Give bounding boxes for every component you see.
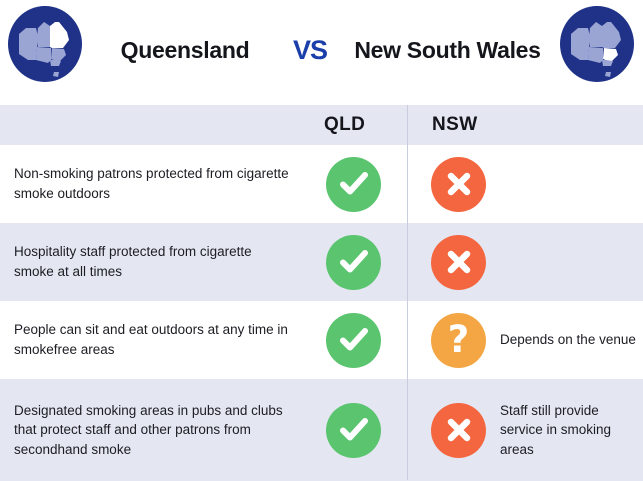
nsw-status-cell: ? Depends on the venue bbox=[407, 313, 643, 368]
comparison-infographic: Queensland VS New South Wales bbox=[0, 0, 643, 480]
statement-text: Designated smoking areas in pubs and clu… bbox=[0, 401, 300, 460]
check-circle-icon bbox=[326, 235, 381, 290]
cross-circle-icon bbox=[431, 157, 486, 212]
qld-status-cell bbox=[300, 403, 407, 458]
nsw-note-text: Depends on the venue bbox=[500, 330, 636, 350]
column-divider bbox=[407, 105, 408, 480]
check-circle-icon bbox=[326, 313, 381, 368]
table-row: Non-smoking patrons protected from cigar… bbox=[0, 145, 643, 223]
title-text-group: Queensland VS New South Wales bbox=[90, 0, 555, 100]
vs-label: VS bbox=[280, 35, 340, 66]
statement-text: People can sit and eat outdoors at any t… bbox=[0, 320, 300, 359]
statement-text: Non-smoking patrons protected from cigar… bbox=[0, 164, 300, 203]
right-state-label: New South Wales bbox=[340, 37, 555, 64]
table-header-row: QLD NSW bbox=[0, 105, 643, 145]
check-circle-icon bbox=[326, 403, 381, 458]
nsw-status-cell bbox=[407, 235, 643, 290]
table-row: Designated smoking areas in pubs and clu… bbox=[0, 379, 643, 481]
nsw-note-text: Staff still provide service in smoking a… bbox=[500, 401, 643, 460]
left-state-label: Queensland bbox=[90, 37, 280, 64]
nsw-status-cell bbox=[407, 157, 643, 212]
cross-circle-icon bbox=[431, 235, 486, 290]
title-bar: Queensland VS New South Wales bbox=[0, 0, 643, 100]
nsw-status-cell: Staff still provide service in smoking a… bbox=[407, 401, 643, 460]
australia-map-queensland-highlighted-icon bbox=[6, 4, 84, 84]
question-mark-glyph: ? bbox=[448, 321, 469, 358]
cross-circle-icon bbox=[431, 403, 486, 458]
qld-status-cell bbox=[300, 235, 407, 290]
column-header-nsw: NSW bbox=[407, 114, 643, 136]
qld-status-cell bbox=[300, 313, 407, 368]
comparison-table: QLD NSW Non-smoking patrons protected fr… bbox=[0, 105, 643, 480]
question-circle-icon: ? bbox=[431, 313, 486, 368]
check-circle-icon bbox=[326, 157, 381, 212]
table-row: Hospitality staff protected from cigaret… bbox=[0, 223, 643, 301]
qld-status-cell bbox=[300, 157, 407, 212]
column-header-qld: QLD bbox=[300, 114, 407, 136]
statement-text: Hospitality staff protected from cigaret… bbox=[0, 242, 300, 281]
australia-map-nsw-highlighted-icon bbox=[558, 4, 636, 84]
table-row: People can sit and eat outdoors at any t… bbox=[0, 301, 643, 379]
